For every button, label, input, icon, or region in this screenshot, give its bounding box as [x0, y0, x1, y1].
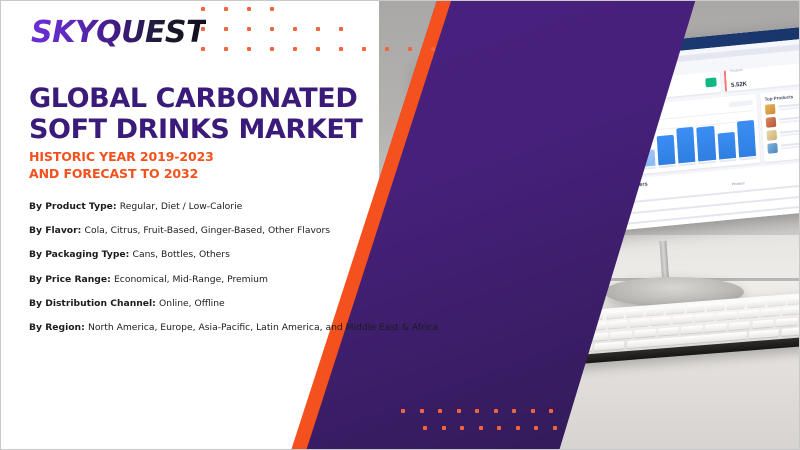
segment-label: By Region: [29, 322, 88, 333]
logo-text: SKYQUEST [31, 15, 206, 50]
dot [494, 409, 498, 413]
segment-row: By Region: North America, Europe, Asia-P… [29, 322, 459, 333]
dot [549, 409, 553, 413]
segment-row: By Flavor: Cola, Citrus, Fruit-Based, Gi… [29, 225, 459, 236]
chart-bar [696, 126, 715, 162]
dot [247, 47, 251, 51]
dot [431, 47, 435, 51]
column-product: Product [732, 181, 745, 186]
dot [270, 47, 274, 51]
dot [438, 409, 442, 413]
dot [420, 409, 424, 413]
dot-row [201, 47, 435, 51]
segment-label: By Flavor: [29, 225, 85, 236]
dot [534, 426, 538, 430]
dot [460, 426, 464, 430]
dot [408, 47, 412, 51]
stat-value: 5.52K [731, 81, 747, 89]
dot [316, 47, 320, 51]
chart-bar [657, 135, 676, 165]
segment-row: By Price Range: Economical, Mid-Range, P… [29, 274, 459, 285]
segment-label: By Distribution Channel: [29, 298, 159, 309]
segment-list: By Product Type: Regular, Diet / Low-Cal… [29, 201, 459, 346]
dot [401, 409, 405, 413]
dot [423, 426, 427, 430]
dot [247, 7, 251, 11]
dot-row [423, 426, 557, 430]
chart-bar [737, 120, 756, 157]
x-tick-label [678, 163, 695, 167]
customers-icon [706, 77, 717, 87]
decorative-dot-grid-bottom [401, 409, 557, 443]
segment-label: By Price Range: [29, 274, 114, 285]
dot [385, 47, 389, 51]
dot [201, 27, 205, 31]
dot [270, 27, 274, 31]
page-title: GLOBAL CARBONATED SOFT DRINKS MARKET [29, 84, 429, 146]
segment-label: By Packaging Type: [29, 249, 133, 260]
dot [247, 27, 251, 31]
top-products-title: Top Products [764, 91, 799, 102]
product-thumbnail [765, 104, 776, 115]
dot [479, 426, 483, 430]
dot [316, 27, 320, 31]
dot-row [401, 409, 557, 413]
stat-label: Products [730, 68, 746, 74]
dot [224, 47, 228, 51]
segment-row: By Packaging Type: Cans, Bottles, Others [29, 249, 459, 260]
segment-value: Economical, Mid-Range, Premium [114, 274, 268, 285]
dot [339, 47, 343, 51]
segment-value: Cola, Citrus, Fruit-Based, Ginger-Based,… [85, 225, 331, 236]
dot [201, 47, 205, 51]
product-thumbnail [766, 117, 777, 128]
segment-row: By Product Type: Regular, Diet / Low-Cal… [29, 201, 459, 212]
segment-label: By Product Type: [29, 201, 120, 212]
segment-value: Cans, Bottles, Others [133, 249, 230, 260]
chart-range-select[interactable] [729, 100, 753, 107]
dot [475, 409, 479, 413]
dot [270, 7, 274, 11]
x-tick-label [699, 161, 716, 165]
dot [457, 409, 461, 413]
dot [442, 426, 446, 430]
dot [293, 27, 297, 31]
x-tick-label [719, 159, 736, 163]
dot-row [201, 7, 435, 11]
product-thumbnail [767, 143, 778, 154]
page-subtitle: HISTORIC YEAR 2019-2023 AND FORECAST TO … [29, 149, 429, 182]
product-thumbnail [767, 130, 778, 141]
dot [512, 409, 516, 413]
dot [224, 7, 228, 11]
dot [293, 47, 297, 51]
segment-value: Regular, Diet / Low-Calorie [120, 201, 243, 212]
dot-row [201, 27, 435, 31]
x-tick-label [739, 157, 756, 161]
dot [516, 426, 520, 430]
subtitle-line-1: HISTORIC YEAR 2019-2023 [29, 149, 429, 166]
x-tick-label [658, 165, 675, 169]
report-cover: File Edit View Go Window Help 100% WEBFY [0, 0, 800, 450]
dot [201, 7, 205, 11]
dot [553, 426, 557, 430]
subtitle-line-2: AND FORECAST TO 2032 [29, 166, 429, 183]
dot [224, 27, 228, 31]
segment-value: Online, Offline [159, 298, 225, 309]
dot [531, 409, 535, 413]
company-logo[interactable]: SKYQUEST [31, 15, 206, 50]
segment-value: North America, Europe, Asia-Pacific, Lat… [88, 322, 438, 333]
chart-bar [717, 132, 736, 159]
decorative-dot-grid-top [201, 7, 435, 67]
chart-bar [676, 127, 695, 164]
dot [497, 426, 501, 430]
segment-row: By Distribution Channel: Online, Offline [29, 298, 459, 309]
dot [362, 47, 366, 51]
top-products-card: Top Products [760, 86, 799, 162]
dot [339, 27, 343, 31]
